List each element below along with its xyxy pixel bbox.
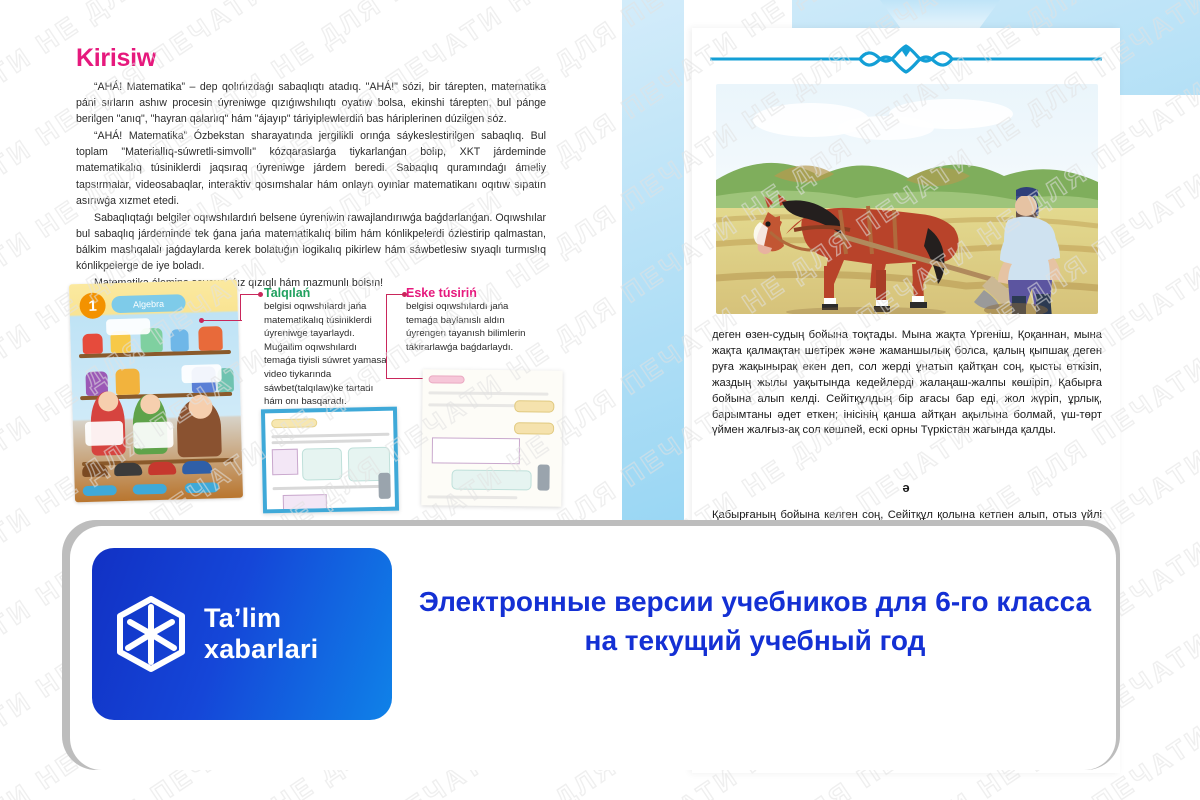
speech-bubble [181,364,221,383]
chapter-number-badge: 1 [79,292,106,319]
worksheet-thumbnail-middle [261,407,399,514]
worksheet-grid [283,494,328,513]
kirisiw-paragraph-1: “AHÁ! Matematika” – dep qolıńızdaǵı saba… [76,79,546,127]
callout-connector [240,294,241,320]
speech-bubble [106,318,150,335]
worksheet-figure [378,473,391,499]
logo-line-2: xabarlari [204,634,318,665]
worksheet-strip [514,422,554,434]
worksheet-tag [429,375,465,383]
logo-line-1: Ta’lim [204,603,318,634]
kazakh-paragraph-1: деген өзен-судың бойына тоқтады. Мына жа… [712,328,1102,439]
connector-dot [258,292,263,297]
kirisiw-paragraph-3: Sabaqlıqtaǵı belgiler oqıwshılardıń bels… [76,210,546,274]
shoe-object [82,463,108,477]
shoe-object [148,461,176,475]
shoe-price-tag [133,484,167,495]
talim-xabarlari-logo[interactable]: Ta’lim xabarlari [92,548,392,720]
callout-talqilan: Talqılań belgisi oqıwshılardı jańa matem… [264,286,388,409]
shelf-object [115,368,140,395]
speech-bubble [85,421,124,446]
kazakh-ornament-icon [710,44,1102,74]
textbook-collage: 1 Algebra [72,282,572,512]
callout-title: Talqılań [264,286,388,300]
kirisiw-heading: Kirisiw [76,44,546,73]
callout-title: Eske túsiriń [406,286,530,300]
worksheet-grid [432,437,520,464]
callout-connector [386,294,387,378]
callout-body: belgisi oqıwshılardı jańa temaǵa baylanı… [406,300,530,354]
worksheet-bubble [302,448,343,481]
kazakh-section-separator: ә [692,480,1120,495]
worksheet-line [271,433,389,438]
horse-plowing-illustration [716,84,1098,314]
worksheet-line [273,485,383,490]
callout-body: belgisi oqıwshılardı jańa matematikalıq … [264,300,388,409]
chapter-label-chip: Algebra [111,294,185,313]
kirisiw-section: Kirisiw “AHÁ! Matematika” – dep qolıńızd… [76,44,546,292]
worksheet-strip [514,400,554,412]
worksheet-line [427,495,517,499]
kirisiw-paragraph-2: “AHÁ! Matematika” Ózbekstan sharayatında… [76,128,546,208]
callout-eske-tusirin: Eske túsiriń belgisi oqıwshılardı jańa t… [406,286,530,354]
connector-dot [199,318,204,323]
shoe-object [114,462,142,476]
algebra-chapter-thumbnail: 1 Algebra [69,280,243,503]
shelf-object [198,326,223,351]
worksheet-thumbnail-right [421,369,562,506]
cube-icon [114,594,188,674]
headline: Электронные версии учебников для 6-го кл… [410,583,1100,660]
worksheet-grid [272,449,299,476]
worksheet-line [428,391,548,395]
screenshot-canvas: Kirisiw “AHÁ! Matematika” – dep qolıńızd… [0,0,1200,800]
worksheet-figure [537,464,549,490]
shoe-price-tag [185,482,219,493]
connector-dot [402,292,407,297]
shelf-object [82,333,103,354]
shoe-object [182,460,212,474]
logo-text: Ta’lim xabarlari [204,603,318,665]
speech-bubble [133,422,174,449]
worksheet-bubble [451,470,531,491]
shelf-object [170,329,189,351]
shoe-price-tag [83,485,117,496]
worksheet-line [272,439,372,444]
callout-connector [202,320,242,321]
worksheet-tag [271,418,317,428]
